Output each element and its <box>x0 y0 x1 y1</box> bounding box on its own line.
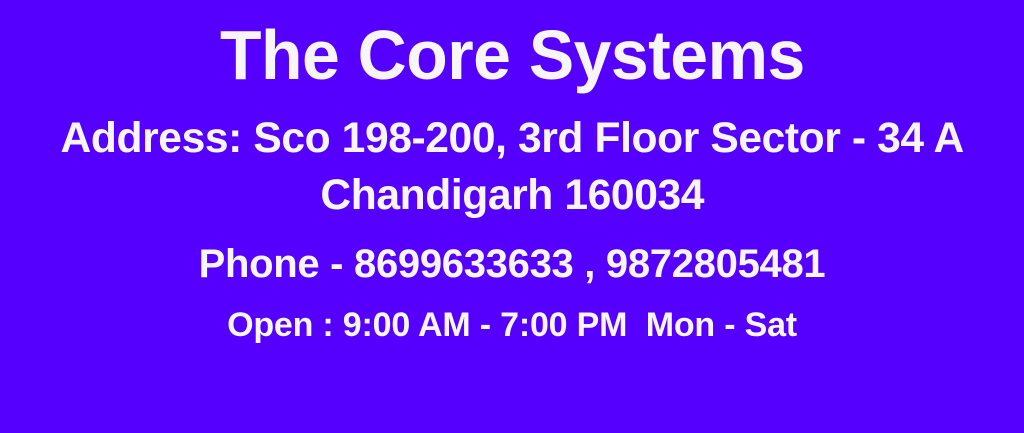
address-line-2: Chandigarh 160034 <box>60 167 963 224</box>
business-info-banner: The Core Systems Address: Sco 198-200, 3… <box>0 0 1024 433</box>
phone-numbers: Phone - 8699633633 , 9872805481 <box>199 240 826 288</box>
business-hours: Open : 9:00 AM - 7:00 PM Mon - Sat <box>227 304 797 346</box>
address-line-1: Address: Sco 198-200, 3rd Floor Sector -… <box>60 110 963 167</box>
business-name-title: The Core Systems <box>220 14 805 96</box>
address-block: Address: Sco 198-200, 3rd Floor Sector -… <box>56 110 968 224</box>
